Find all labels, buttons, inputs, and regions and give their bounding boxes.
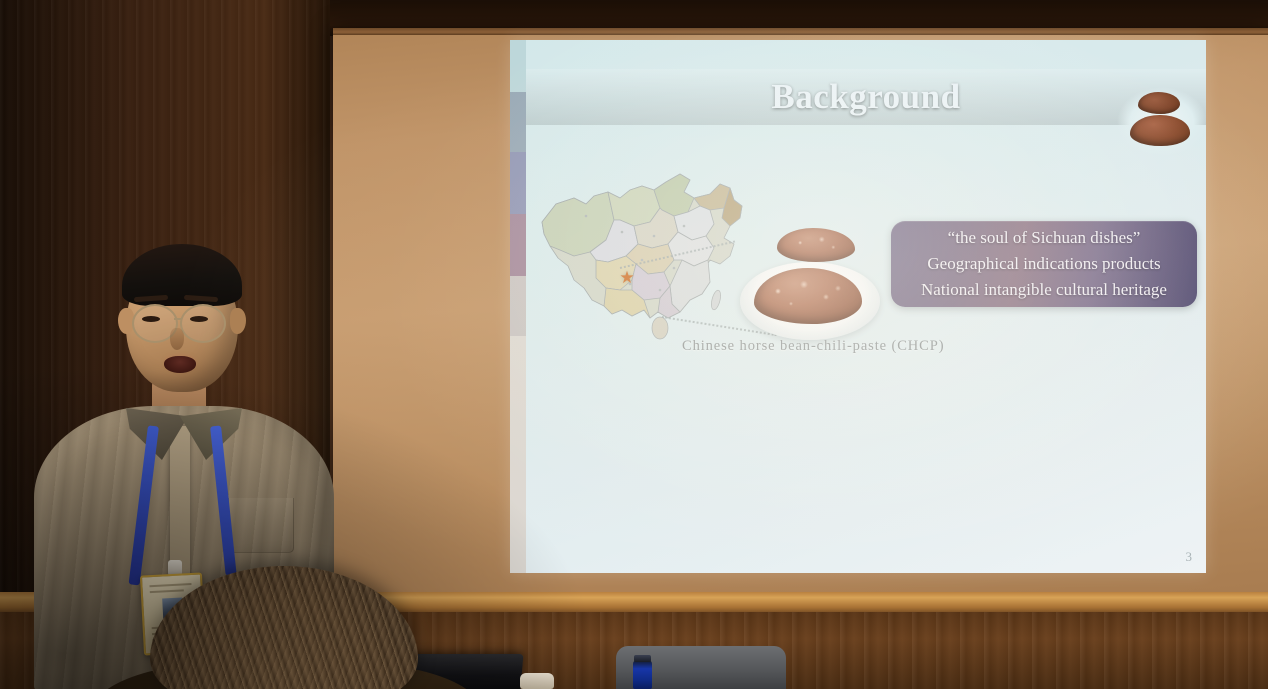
- key-points-callout: “the soul of Sichuan dishes” Geographica…: [891, 221, 1197, 307]
- photo-caption: Chinese horse bean-chili-paste (CHCP): [682, 338, 982, 355]
- presenter-nose: [170, 328, 184, 350]
- presentation-slide: Background: [510, 40, 1206, 573]
- slide-title-banner: Background: [526, 69, 1206, 125]
- presenter-eye-left: [142, 316, 160, 322]
- logo-paste-spoon: [1138, 92, 1180, 114]
- water-bottle: [633, 660, 652, 689]
- screen-top-rail: [333, 28, 1268, 35]
- presenter-mouth: [164, 356, 196, 373]
- presenter-ear-right: [230, 308, 246, 334]
- callout-line-1: “the soul of Sichuan dishes”: [948, 225, 1141, 251]
- glasses-lens-right: [180, 304, 226, 343]
- cup: [520, 673, 554, 689]
- page-title: Background: [526, 69, 1206, 125]
- chili-paste-photo: [732, 216, 892, 346]
- callout-line-2: Geographical indications products: [927, 251, 1160, 277]
- glasses-bridge: [174, 318, 182, 320]
- slide-number: 3: [1186, 549, 1193, 565]
- map-of-china: ★: [534, 160, 764, 340]
- logo-paste-plate: [1130, 115, 1190, 146]
- presenter-eye-right: [190, 316, 208, 322]
- presentation-photo-scene: Background: [0, 0, 1268, 689]
- bottle-cap: [634, 655, 651, 662]
- sichuan-star-marker: ★: [619, 270, 635, 286]
- paste-spoonful: [777, 228, 855, 262]
- slide-edge-color-strip: [510, 40, 526, 573]
- chili-paste-logo-icon: [1114, 81, 1206, 155]
- callout-line-3: National intangible cultural heritage: [921, 277, 1167, 303]
- shirt-pocket: [228, 498, 294, 553]
